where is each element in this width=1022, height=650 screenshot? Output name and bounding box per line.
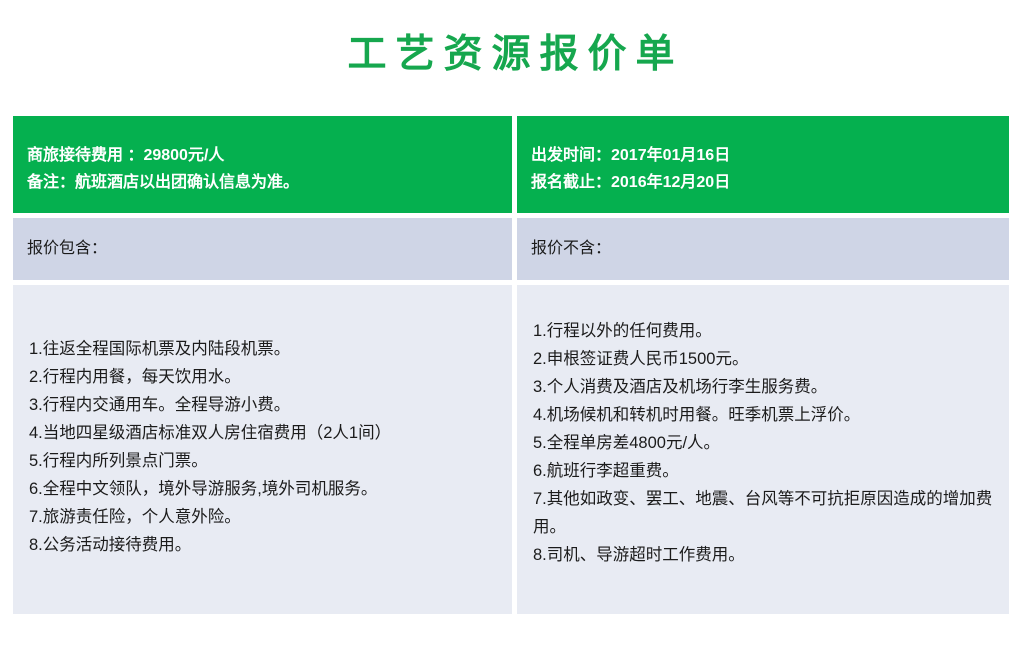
section-header-row: 报价包含： 报价不含：	[13, 218, 1009, 280]
list-item: 5.行程内所列景点门票。	[29, 447, 496, 475]
quotation-page: 工艺资源报价单 商旅接待费用 ：29800元/人 备注：航班酒店以出团确认信息为…	[0, 0, 1022, 650]
included-header-label: 报价包含：	[27, 237, 512, 261]
summary-cell-cost: 商旅接待费用 ：29800元/人 备注：航班酒店以出团确认信息为准。	[13, 116, 512, 213]
list-item: 1.行程以外的任何费用。	[533, 317, 993, 345]
list-item: 8.公务活动接待费用。	[29, 531, 496, 559]
reception-fee-text: 商旅接待费用 ：29800元/人	[27, 142, 512, 169]
departure-date-text: 出发时间：2017年01月16日	[531, 142, 1009, 169]
quotation-table: 商旅接待费用 ：29800元/人 备注：航班酒店以出团确认信息为准。 出发时间：…	[13, 116, 1009, 614]
included-items-list: 1.往返全程国际机票及内陆段机票。 2.行程内用餐，每天饮用水。 3.行程内交通…	[29, 335, 496, 559]
details-row: 1.往返全程国际机票及内陆段机票。 2.行程内用餐，每天饮用水。 3.行程内交通…	[13, 285, 1009, 614]
list-item: 8.司机、导游超时工作费用。	[533, 541, 993, 569]
list-item: 7.其他如政变、罢工、地震、台风等不可抗拒原因造成的增加费用。	[533, 485, 993, 541]
summary-row: 商旅接待费用 ：29800元/人 备注：航班酒店以出团确认信息为准。 出发时间：…	[13, 116, 1009, 213]
title-bar: 工艺资源报价单	[0, 0, 1022, 102]
excluded-header-label: 报价不含：	[531, 237, 1009, 261]
list-item: 7.旅游责任险，个人意外险。	[29, 503, 496, 531]
body-cell-included: 1.往返全程国际机票及内陆段机票。 2.行程内用餐，每天饮用水。 3.行程内交通…	[13, 285, 512, 614]
list-item: 4.机场候机和转机时用餐。旺季机票上浮价。	[533, 401, 993, 429]
list-item: 5.全程单房差4800元/人。	[533, 429, 993, 457]
registration-deadline-text: 报名截止：2016年12月20日	[531, 169, 1009, 196]
list-item: 1.往返全程国际机票及内陆段机票。	[29, 335, 496, 363]
header-cell-included: 报价包含：	[13, 218, 512, 280]
list-item: 4.当地四星级酒店标准双人房住宿费用（2人1间）	[29, 419, 496, 447]
remark-text: 备注：航班酒店以出团确认信息为准。	[27, 169, 512, 196]
list-item: 6.全程中文领队，境外导游服务,境外司机服务。	[29, 475, 496, 503]
page-title: 工艺资源报价单	[338, 35, 683, 74]
list-item: 2.行程内用餐，每天饮用水。	[29, 363, 496, 391]
list-item: 3.行程内交通用车。全程导游小费。	[29, 391, 496, 419]
excluded-items-list: 1.行程以外的任何费用。 2.申根签证费人民币1500元。 3.个人消费及酒店及…	[533, 317, 993, 569]
body-cell-excluded: 1.行程以外的任何费用。 2.申根签证费人民币1500元。 3.个人消费及酒店及…	[517, 285, 1009, 614]
list-item: 2.申根签证费人民币1500元。	[533, 345, 993, 373]
list-item: 6.航班行李超重费。	[533, 457, 993, 485]
summary-cell-dates: 出发时间：2017年01月16日 报名截止：2016年12月20日	[517, 116, 1009, 213]
header-cell-excluded: 报价不含：	[517, 218, 1009, 280]
list-item: 3.个人消费及酒店及机场行李生服务费。	[533, 373, 993, 401]
